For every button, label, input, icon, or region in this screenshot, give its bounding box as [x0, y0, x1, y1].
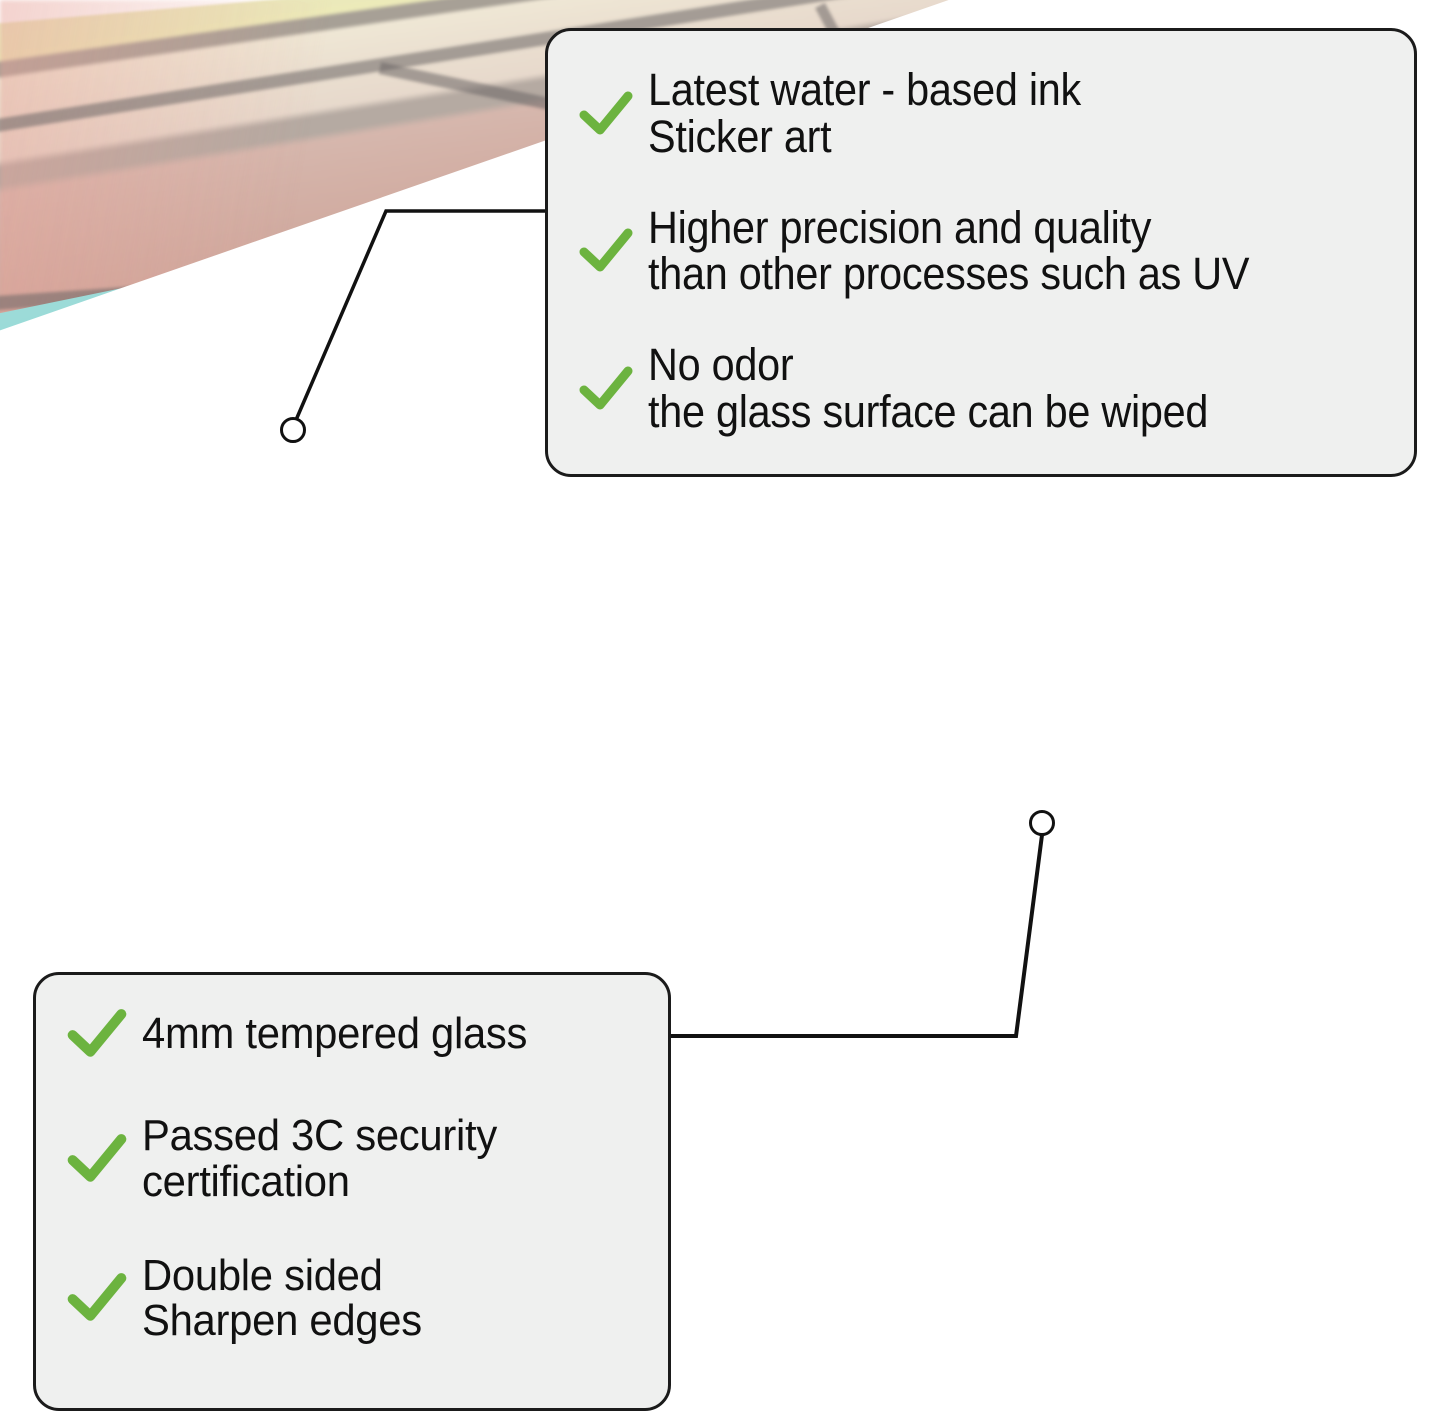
check-icon — [578, 223, 634, 279]
callout-bullet-line: Sharpen edges — [142, 1298, 422, 1344]
callout-bullet-text: Higher precision and quality than other … — [648, 205, 1249, 299]
glass-edge-marker[interactable] — [1029, 810, 1055, 836]
callout-bullet-text: Latest water - based ink Sticker art — [648, 67, 1081, 161]
check-icon — [66, 1003, 128, 1065]
callout-bullet-line: certification — [142, 1159, 497, 1205]
callout-bullet-line: Double sided — [142, 1253, 422, 1299]
callout-bullet-line: No odor — [648, 342, 1208, 389]
callout-bullet: Passed 3C security certification — [66, 1113, 646, 1205]
callout-bullet-text: Double sided Sharpen edges — [142, 1253, 422, 1345]
callout-bullet-line: the glass surface can be wiped — [648, 389, 1208, 436]
glass-construction-callout: 4mm tempered glass Passed 3C security ce… — [33, 972, 671, 1411]
callout-bullet: Double sided Sharpen edges — [66, 1253, 646, 1345]
check-icon — [66, 1267, 128, 1329]
callout-bullet: No odor the glass surface can be wiped — [578, 342, 1388, 436]
check-icon — [66, 1128, 128, 1190]
callout-bullet-line: Latest water - based ink — [648, 67, 1081, 114]
callout-bullet: Latest water - based ink Sticker art — [578, 67, 1388, 161]
callout-bullet-line: than other processes such as UV — [648, 251, 1249, 298]
callout-bullet: 4mm tempered glass — [66, 1003, 646, 1065]
callout-bullet-line: Sticker art — [648, 114, 1081, 161]
callout-bullet-text: No odor the glass surface can be wiped — [648, 342, 1208, 436]
callout-bullet-text: Passed 3C security certification — [142, 1113, 497, 1205]
callout-bullet-line: 4mm tempered glass — [142, 1011, 527, 1057]
check-icon — [578, 86, 634, 142]
glass-print-surface-marker[interactable] — [280, 417, 306, 443]
callout-bullet-line: Passed 3C security — [142, 1113, 497, 1159]
infographic-canvas: Latest water - based ink Sticker art Hig… — [0, 0, 1445, 1423]
callout-bullet-line: Higher precision and quality — [648, 205, 1249, 252]
callout-bullet: Higher precision and quality than other … — [578, 205, 1388, 299]
check-icon — [578, 361, 634, 417]
printing-process-callout: Latest water - based ink Sticker art Hig… — [545, 28, 1417, 477]
callout-bullet-text: 4mm tempered glass — [142, 1011, 527, 1057]
